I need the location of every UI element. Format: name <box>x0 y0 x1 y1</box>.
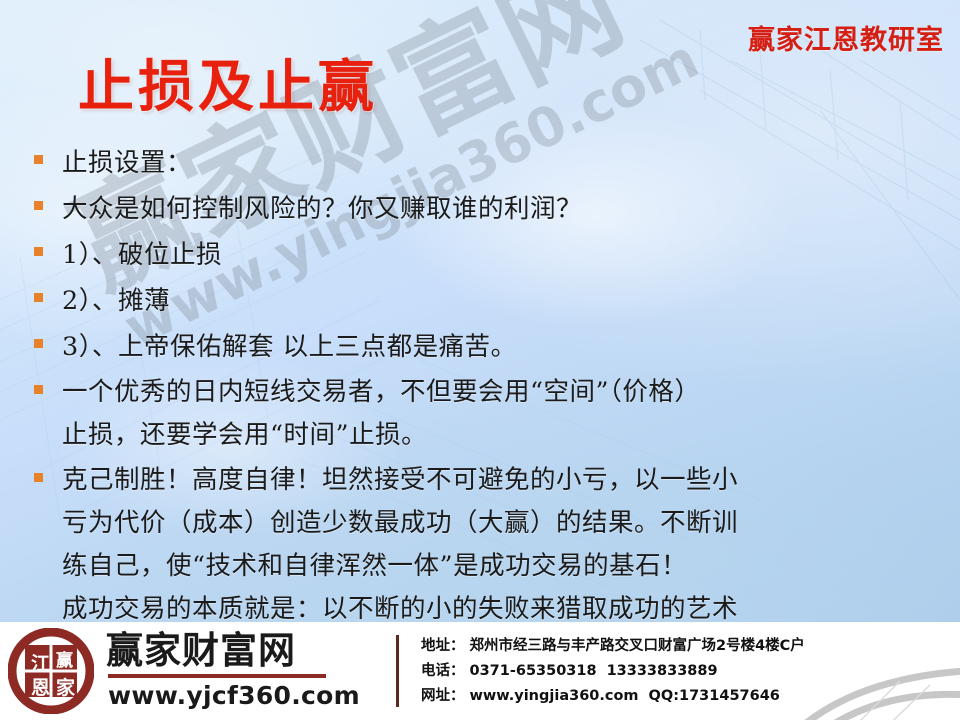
list-item-text: 2）、摊薄 <box>62 279 952 323</box>
slide-canvas: 赢家财富网 www.yingjia360.com 赢家江恩教研室 止损及止赢 止… <box>0 0 960 720</box>
header-brand-label: 赢家江恩教研室 <box>748 18 944 57</box>
list-item-text: 止损设置： <box>62 141 952 185</box>
contact-row-address: 地址： 郑州市经三路与丰产路交叉口财富广场2号楼4楼C户 <box>421 634 960 659</box>
footer-logo[interactable]: 江 赢 恩 家 赢家财富网 www.yjcf360.com <box>0 628 360 714</box>
seal-glyph: 江 <box>31 655 50 674</box>
list-item-text: 克己制胜！高度自律！坦然接受不可避免的小亏，以一些小 亏为代价（成本）创造少数最… <box>62 459 952 631</box>
brand-underline-divider <box>108 674 326 678</box>
list-item: 2）、摊薄 <box>34 279 952 323</box>
footer-brand-name: 赢家财富网 <box>106 632 360 671</box>
contact-label: 网址： <box>421 684 465 709</box>
contact-value: 郑州市经三路与丰产路交叉口财富广场2号楼4楼C户 <box>469 634 804 659</box>
bullet-square-icon <box>34 385 43 394</box>
list-item: 克己制胜！高度自律！坦然接受不可避免的小亏，以一些小 亏为代价（成本）创造少数最… <box>34 459 952 631</box>
list-item: 1）、破位止损 <box>34 233 952 277</box>
contact-value: 0371-65350318 <box>469 659 596 684</box>
list-item: 一个优秀的日内短线交易者，不但要会用“空间”（价格） 止损，还要学会用“时间”止… <box>34 371 952 457</box>
list-item: 3）、上帝保佑解套 以上三点都是痛苦。 <box>34 325 952 369</box>
contact-label: 电话： <box>421 659 465 684</box>
footer-bar: 江 赢 恩 家 赢家财富网 www.yjcf360.com 地址： 郑州市经三路… <box>0 622 960 720</box>
bullet-square-icon <box>34 293 43 302</box>
list-item-text: 大众是如何控制风险的？你又赚取谁的利润？ <box>62 187 952 231</box>
contact-row-phone: 电话： 0371-65350318 13333833889 <box>421 659 960 684</box>
list-item-text: 3）、上帝保佑解套 以上三点都是痛苦。 <box>62 325 952 369</box>
page-title: 止损及止赢 <box>78 42 378 123</box>
bullet-list: 止损设置： 大众是如何控制风险的？你又赚取谁的利润？ 1）、破位止损 2）、摊薄… <box>34 141 952 633</box>
contact-value[interactable]: www.yingjia360.com <box>469 684 638 709</box>
list-item-text: 1）、破位止损 <box>62 233 952 277</box>
contact-value-secondary: 13333833889 <box>607 659 718 684</box>
list-item: 止损设置： <box>34 141 952 185</box>
bullet-square-icon <box>34 201 43 210</box>
bullet-square-icon <box>34 155 43 164</box>
footer-vertical-divider <box>396 635 399 707</box>
contact-row-website: 网址： www.yingjia360.com QQ:1731457646 <box>421 684 960 709</box>
company-seal-icon: 江 赢 恩 家 <box>8 628 94 714</box>
footer-contact-block: 地址： 郑州市经三路与丰产路交叉口财富广场2号楼4楼C户 电话： 0371-65… <box>421 634 960 709</box>
seal-glyph: 家 <box>56 679 75 698</box>
footer-brand-block: 赢家财富网 www.yjcf360.com <box>106 632 360 710</box>
bullet-square-icon <box>34 339 43 348</box>
footer-brand-url[interactable]: www.yjcf360.com <box>108 681 360 710</box>
contact-label: 地址： <box>421 634 465 659</box>
list-item-text: 一个优秀的日内短线交易者，不但要会用“空间”（价格） 止损，还要学会用“时间”止… <box>62 371 952 457</box>
contact-value-qq: QQ:1731457646 <box>649 684 780 709</box>
bullet-square-icon <box>34 473 43 482</box>
bullet-square-icon <box>34 247 43 256</box>
list-item: 大众是如何控制风险的？你又赚取谁的利润？ <box>34 187 952 231</box>
seal-glyph: 恩 <box>31 679 50 698</box>
seal-glyph: 赢 <box>56 653 73 670</box>
